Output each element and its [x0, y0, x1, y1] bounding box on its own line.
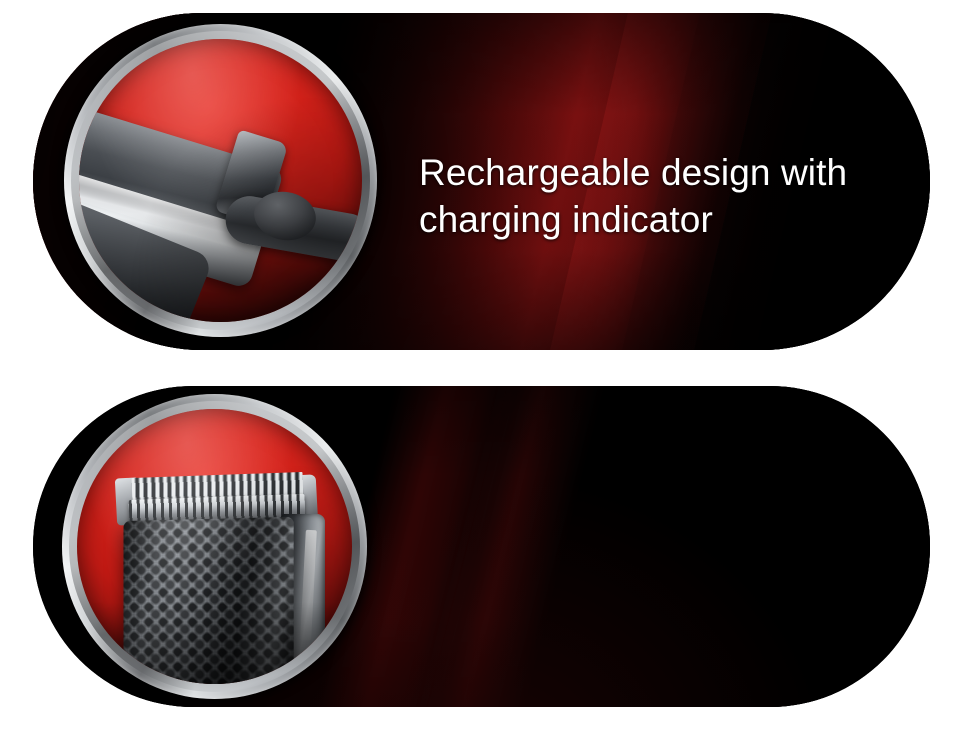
feature-panels-stage: Rechargeable design with charging indica… — [0, 0, 961, 735]
blade-drop-shadow — [77, 602, 352, 685]
feature-panel-stainless-blade[interactable]: Stainless steel blade, easy to cut the h… — [33, 386, 930, 707]
trimmer-head-illustration — [79, 39, 362, 322]
red-disc-1 — [79, 39, 362, 322]
blade-illustration — [77, 409, 352, 684]
stainless-blade-photo[interactable] — [62, 394, 367, 699]
rechargeable-design-photo[interactable] — [64, 24, 377, 337]
red-disc-2 — [77, 409, 352, 684]
feature-panel-rechargeable[interactable]: Rechargeable design with charging indica… — [33, 13, 930, 350]
panel-1-caption: Rechargeable design with charging indica… — [419, 149, 930, 244]
trimmer-drop-shadow — [79, 214, 362, 322]
